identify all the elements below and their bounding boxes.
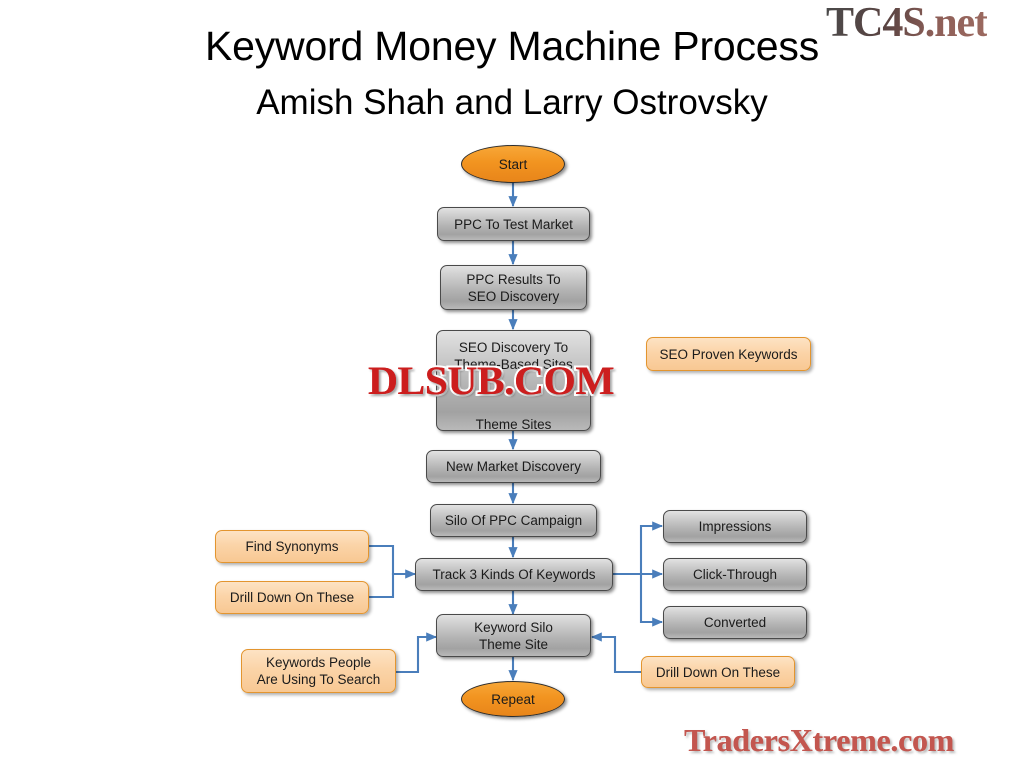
node-track-3-kinds-of-keywords-label: Track 3 Kinds Of Keywords <box>416 566 612 583</box>
node-new-market-discovery-label: New Market Discovery <box>427 458 600 475</box>
node-ppc-results-to-seo-discovery[interactable]: PPC Results To SEO Discovery <box>440 265 587 310</box>
node-find-synonyms-label: Find Synonyms <box>216 538 368 555</box>
node-seo-theme-line1: SEO Discovery To <box>437 339 590 356</box>
node-start[interactable]: Start <box>461 145 565 183</box>
node-silo-of-ppc-campaign[interactable]: Silo Of PPC Campaign <box>430 504 597 537</box>
node-keywords-people-are-using-to-search-label: Keywords People Are Using To Search <box>242 654 395 688</box>
node-keyword-silo-theme-site[interactable]: Keyword Silo Theme Site <box>436 614 591 657</box>
edge-drill-left-to-track3 <box>369 574 415 597</box>
node-drill-down-on-these-right-label: Drill Down On These <box>642 664 794 681</box>
node-start-label: Start <box>462 156 564 173</box>
node-impressions-label: Impressions <box>664 518 806 535</box>
node-seo-theme-line4: Theme Sites <box>437 416 590 433</box>
node-track-3-kinds-of-keywords[interactable]: Track 3 Kinds Of Keywords <box>415 558 613 591</box>
edge-kw-people-to-kw-silo <box>396 637 436 672</box>
node-click-through[interactable]: Click-Through <box>663 558 807 591</box>
node-seo-discovery-to-theme-based-sites[interactable]: SEO Discovery To Theme-Based Sites Theme… <box>436 330 591 431</box>
edge-find-synonyms-to-track3 <box>369 546 415 574</box>
node-find-synonyms[interactable]: Find Synonyms <box>215 530 369 563</box>
node-drill-down-on-these-left-label: Drill Down On These <box>216 589 368 606</box>
node-new-market-discovery[interactable]: New Market Discovery <box>426 450 601 483</box>
node-keyword-silo-theme-site-label: Keyword Silo Theme Site <box>437 619 590 653</box>
node-click-through-label: Click-Through <box>664 566 806 583</box>
node-ppc-to-test-market[interactable]: PPC To Test Market <box>437 207 590 241</box>
edge-drill-right-to-kw-silo <box>592 637 641 672</box>
node-ppc-results-to-seo-discovery-label: PPC Results To SEO Discovery <box>441 271 586 305</box>
node-drill-down-on-these-right[interactable]: Drill Down On These <box>641 656 795 688</box>
node-seo-theme-line2: Theme-Based Sites <box>437 356 590 373</box>
node-seo-proven-keywords[interactable]: SEO Proven Keywords <box>646 337 811 371</box>
slide-canvas: Keyword Money Machine Process Amish Shah… <box>0 0 1024 768</box>
node-silo-of-ppc-campaign-label: Silo Of PPC Campaign <box>431 512 596 529</box>
node-seo-proven-keywords-label: SEO Proven Keywords <box>647 346 810 363</box>
node-drill-down-on-these-left[interactable]: Drill Down On These <box>215 581 369 614</box>
node-repeat-label: Repeat <box>462 691 564 708</box>
node-converted-label: Converted <box>664 614 806 631</box>
node-converted[interactable]: Converted <box>663 606 807 639</box>
node-keywords-people-are-using-to-search[interactable]: Keywords People Are Using To Search <box>241 649 396 693</box>
node-repeat[interactable]: Repeat <box>461 681 565 717</box>
node-ppc-to-test-market-label: PPC To Test Market <box>438 216 589 233</box>
edge-track3-to-impressions <box>641 526 662 574</box>
edge-track3-to-converted <box>641 574 662 622</box>
node-impressions[interactable]: Impressions <box>663 510 807 543</box>
